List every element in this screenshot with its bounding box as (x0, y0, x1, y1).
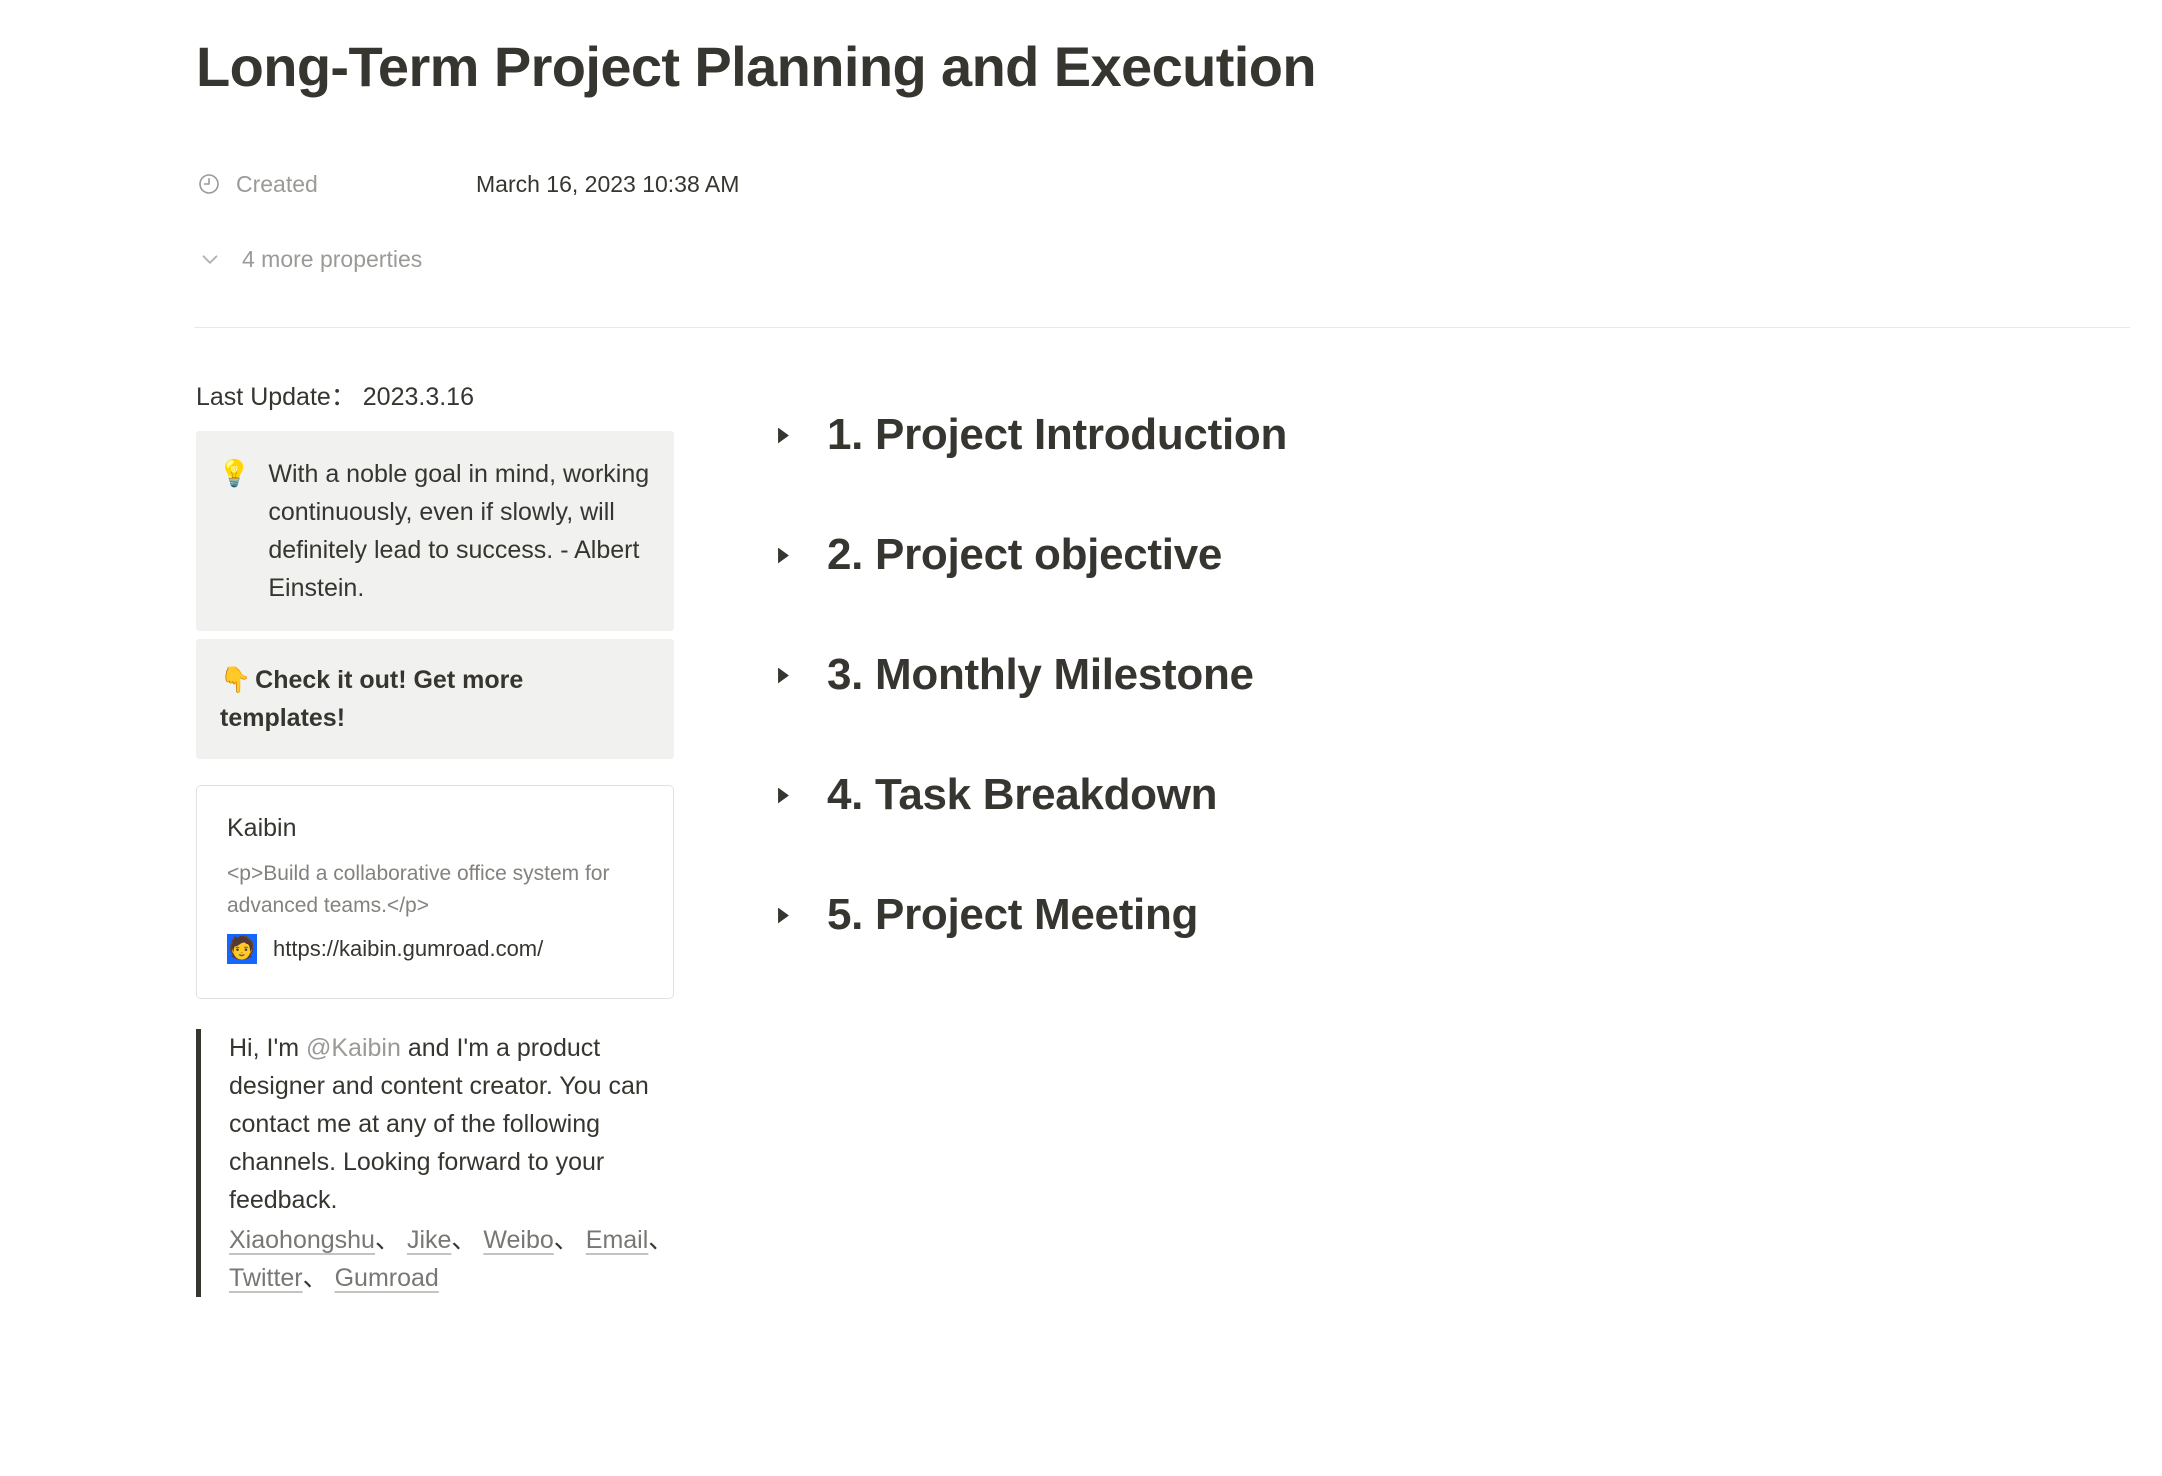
toggle-heading-3-label: 3. Monthly Milestone (827, 648, 1254, 702)
link-separator: 、 (554, 1226, 579, 1254)
link-separator: 、 (375, 1226, 400, 1254)
last-update-text: Last Update： 2023.3.16 (196, 380, 676, 414)
quote-block: Hi, I'm @Kaibin and I'm a product design… (196, 1029, 674, 1297)
property-row-created: Created March 16, 2023 10:38 AM (196, 165, 739, 203)
page-title[interactable]: Long-Term Project Planning and Execution (196, 34, 1316, 100)
property-value-created[interactable]: March 16, 2023 10:38 AM (476, 170, 739, 198)
bookmark-url: https://kaibin.gumroad.com/ (273, 934, 543, 964)
clock-icon (196, 171, 222, 197)
bookmark-url-row[interactable]: 🧑 https://kaibin.gumroad.com/ (227, 934, 643, 964)
bookmark-description: <p>Build a collaborative office system f… (227, 858, 643, 922)
property-label-created[interactable]: Created (196, 170, 476, 198)
link-weibo[interactable]: Weibo (483, 1226, 553, 1254)
favicon-icon: 🧑 (227, 934, 257, 964)
link-separator: 、 (303, 1264, 328, 1292)
toggle-heading-2-label: 2. Project objective (827, 528, 1222, 582)
bookmark-title: Kaibin (227, 812, 643, 844)
header-divider (194, 327, 2130, 328)
callout-quote-text: With a noble goal in mind, working conti… (268, 455, 650, 607)
link-gumroad[interactable]: Gumroad (335, 1264, 439, 1292)
bookmark-card[interactable]: Kaibin <p>Build a collaborative office s… (196, 785, 674, 999)
quote-intro: Hi, I'm @Kaibin and I'm a product design… (229, 1029, 674, 1219)
link-separator: 、 (648, 1226, 673, 1254)
chevron-down-icon (196, 245, 224, 273)
quote-links: Xiaohongshu、 Jike、 Weibo、 Email、 Twitter… (229, 1221, 674, 1297)
link-twitter[interactable]: Twitter (229, 1264, 303, 1292)
callout-promo-label: Check it out! Get more templates! (220, 666, 523, 732)
left-column: Last Update： 2023.3.16 💡 With a noble go… (196, 380, 676, 1297)
pointing-down-emoji: 👇 (220, 665, 251, 694)
notion-page: Long-Term Project Planning and Execution… (0, 0, 2162, 1476)
property-label-text: Created (236, 170, 318, 198)
callout-promo-text: 👇Check it out! Get more templates! (220, 666, 523, 732)
toggle-heading-3[interactable]: 3. Monthly Milestone (775, 648, 2075, 702)
more-properties-label: 4 more properties (242, 245, 422, 273)
quote-intro-prefix: Hi, I'm (229, 1034, 306, 1062)
link-email[interactable]: Email (586, 1226, 649, 1254)
more-properties-toggle[interactable]: 4 more properties (196, 245, 422, 273)
triangle-right-icon[interactable] (775, 546, 809, 565)
toggle-heading-5-label: 5. Project Meeting (827, 888, 1198, 942)
right-column: 1. Project Introduction 2. Project objec… (775, 408, 2075, 942)
callout-quote[interactable]: 💡 With a noble goal in mind, working con… (196, 431, 674, 631)
triangle-right-icon[interactable] (775, 906, 809, 925)
toggle-heading-5[interactable]: 5. Project Meeting (775, 888, 2075, 942)
toggle-heading-1[interactable]: 1. Project Introduction (775, 408, 2075, 462)
link-xiaohongshu[interactable]: Xiaohongshu (229, 1226, 375, 1254)
triangle-right-icon[interactable] (775, 786, 809, 805)
toggle-heading-2[interactable]: 2. Project objective (775, 528, 2075, 582)
light-bulb-emoji: 💡 (218, 455, 250, 493)
triangle-right-icon[interactable] (775, 426, 809, 445)
toggle-heading-4-label: 4. Task Breakdown (827, 768, 1217, 822)
link-separator: 、 (451, 1226, 476, 1254)
callout-promo[interactable]: 👇Check it out! Get more templates! (196, 639, 674, 759)
toggle-heading-4[interactable]: 4. Task Breakdown (775, 768, 2075, 822)
toggle-heading-1-label: 1. Project Introduction (827, 408, 1287, 462)
link-jike[interactable]: Jike (407, 1226, 451, 1254)
mention-kaibin[interactable]: @Kaibin (306, 1034, 401, 1062)
triangle-right-icon[interactable] (775, 666, 809, 685)
